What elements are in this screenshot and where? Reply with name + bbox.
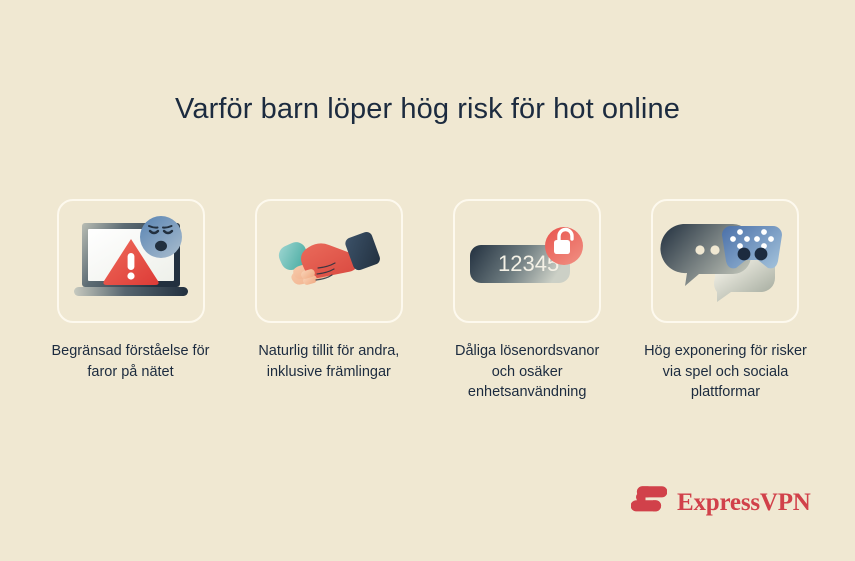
handshake-icon (273, 222, 385, 300)
icon-frame-2 (255, 199, 403, 323)
risk-card-3: 12345 Dåliga lösenordsvanor och osäker e… (445, 199, 610, 403)
risk-card-4: Hög exponering för risker via spel och s… (643, 199, 808, 403)
password-field-unlocked-icon: 12345 (468, 225, 586, 297)
expressvpn-logo-mark (631, 484, 667, 521)
risk-card-1: Begränsad förståelse för faror på nätet (48, 199, 213, 382)
expressvpn-logo: ExpressVPN (631, 484, 811, 521)
risk-card-3-caption: Dåliga lösenordsvanor och osäker enhetsa… (445, 341, 610, 403)
risk-cards-row: Begränsad förståelse för faror på nätet (48, 199, 808, 403)
risk-card-4-caption: Hög exponering för risker via spel och s… (643, 341, 808, 403)
expressvpn-logo-text: ExpressVPN (677, 489, 811, 517)
infographic-canvas: Varför barn löper hög risk för hot onlin… (0, 0, 855, 561)
risk-card-1-caption: Begränsad förståelse för faror på nätet (48, 341, 213, 382)
icon-frame-4 (651, 199, 799, 323)
risk-card-2: Naturlig tillit för andra, inklusive frä… (246, 199, 411, 382)
icon-frame-3: 12345 (453, 199, 601, 323)
chat-bubbles-game-controller-icon (667, 216, 783, 306)
icon-frame-1 (57, 199, 205, 323)
page-title: Varför barn löper hög risk för hot onlin… (0, 91, 855, 127)
laptop-warning-sad-face-icon (72, 215, 190, 307)
risk-card-2-caption: Naturlig tillit för andra, inklusive frä… (246, 341, 411, 382)
